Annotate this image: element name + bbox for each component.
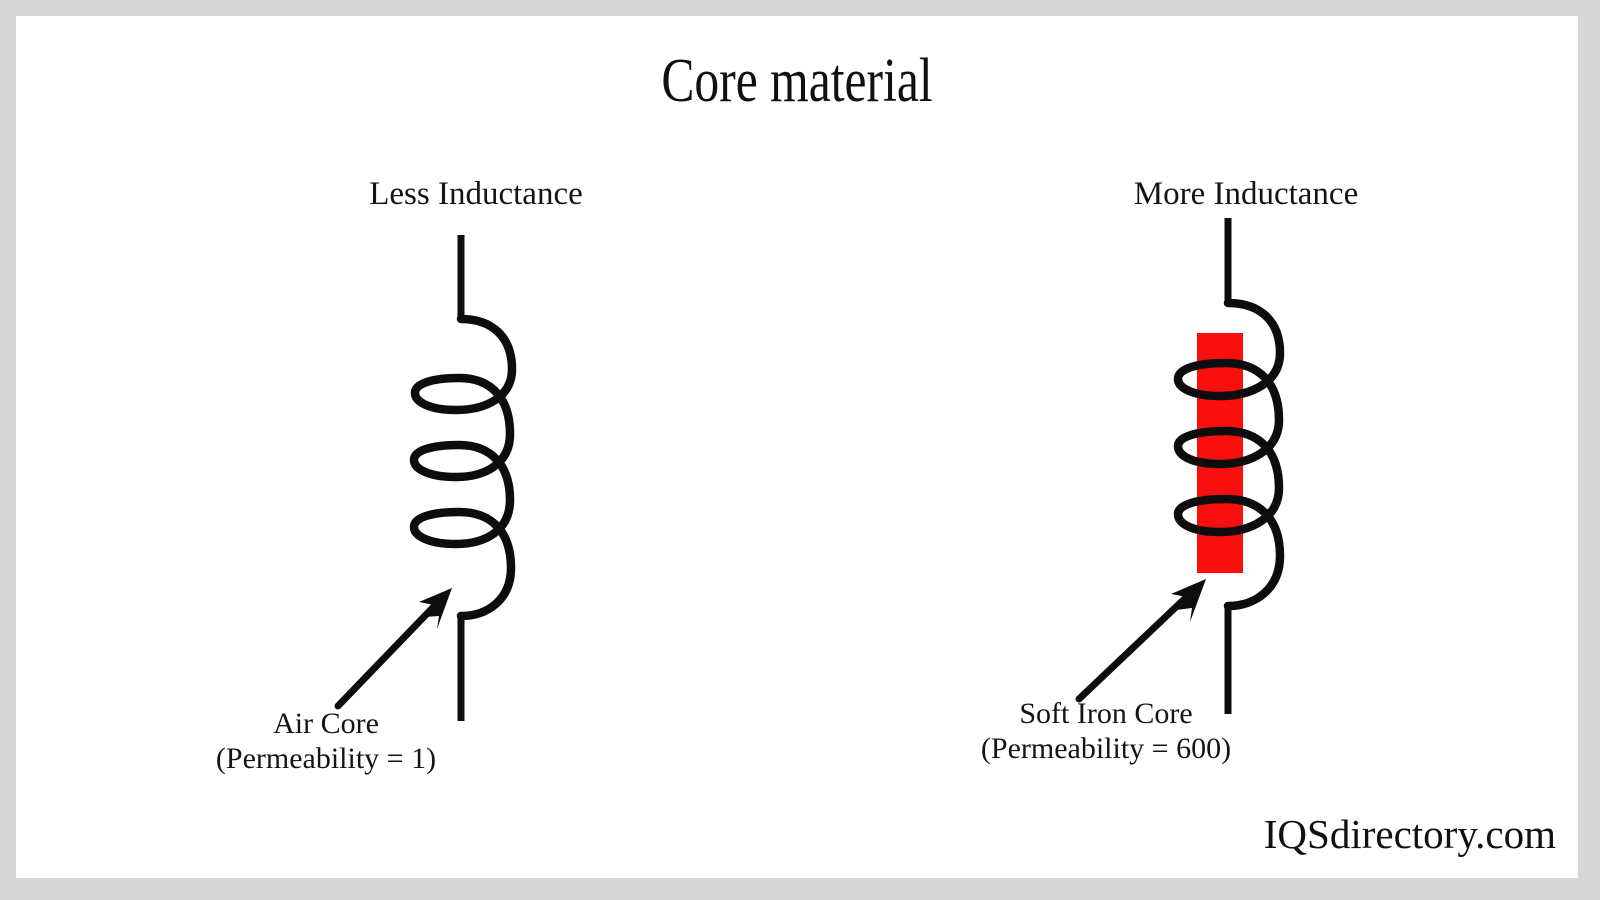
- watermark: IQSdirectory.com: [1264, 810, 1556, 858]
- soft-iron-core-inductor: [1079, 218, 1280, 714]
- diagram-canvas: Core material Less Inductance More Induc…: [16, 16, 1578, 878]
- callout-soft-iron-core-line1: Soft Iron Core: [1019, 697, 1192, 730]
- callout-air-core-line1: Air Core: [273, 707, 379, 740]
- soft-iron-core-bar: [1197, 333, 1243, 573]
- iron-core-pointer-arrow: [1079, 579, 1206, 699]
- air-core-pointer-arrow: [338, 588, 452, 706]
- iron-core-coil: [1178, 303, 1280, 606]
- heading-more-inductance: More Inductance: [1066, 176, 1426, 212]
- image-frame: Core material Less Inductance More Induc…: [0, 0, 1600, 900]
- callout-air-core-line2: (Permeability = 1): [136, 741, 516, 776]
- callout-soft-iron-core-line2: (Permeability = 600): [906, 731, 1306, 766]
- air-core-coil: [414, 319, 512, 616]
- page-title: Core material: [172, 50, 1422, 112]
- air-core-inductor: [338, 235, 512, 721]
- callout-soft-iron-core: Soft Iron Core (Permeability = 600): [906, 696, 1306, 767]
- heading-less-inductance: Less Inductance: [296, 176, 656, 212]
- callout-air-core: Air Core (Permeability = 1): [136, 706, 516, 777]
